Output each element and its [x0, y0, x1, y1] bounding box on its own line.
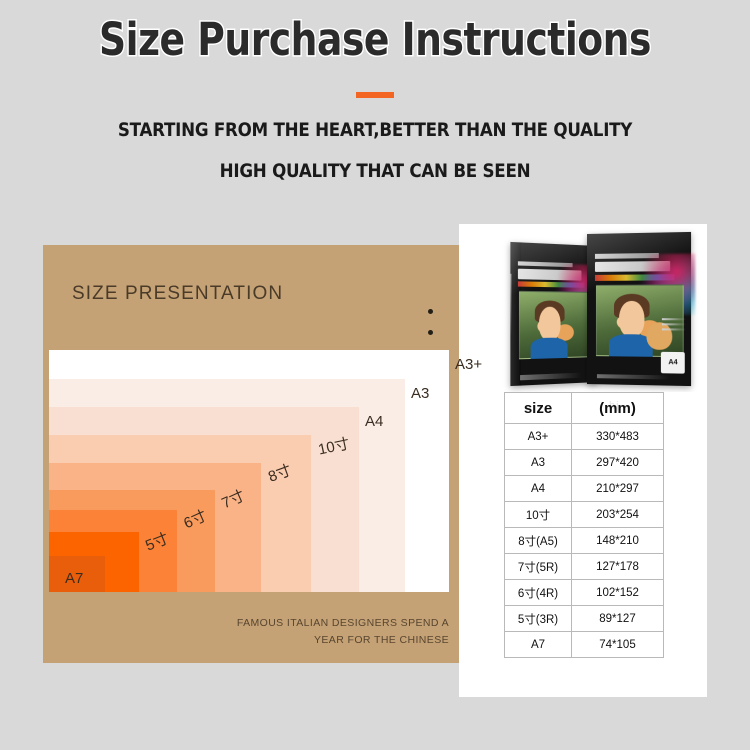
table-row: A4210*297 [505, 476, 664, 502]
cell-mm: 74*105 [572, 632, 664, 658]
cell-size: 8寸(A5) [505, 528, 572, 554]
table-row: A774*105 [505, 632, 664, 658]
column-header-size: size [505, 393, 572, 424]
dot-icon [428, 330, 433, 335]
cell-mm: 148*210 [572, 528, 664, 554]
page-title: Size Purchase Instructions [26, 16, 724, 64]
box-cover-photo [519, 291, 593, 359]
table-row: 8寸(A5)148*210 [505, 528, 664, 554]
cell-size: 5寸(3R) [505, 606, 572, 632]
cell-mm: 102*152 [572, 580, 664, 606]
product-box-back [510, 242, 598, 386]
table-header-row: size (mm) [505, 393, 664, 424]
size-comparison-diagram: A3+A3A410寸8寸7寸6寸5寸A7 [49, 350, 449, 592]
product-and-table-panel: A4 hj size (mm) A3+330*483A3297*420A4210… [459, 224, 707, 697]
column-header-mm: (mm) [572, 393, 664, 424]
subtitle-line-1: STARTING FROM THE HEART,BETTER THAN THE … [45, 119, 705, 141]
a4-badge: A4 [661, 352, 684, 374]
cell-size: A4 [505, 476, 572, 502]
cell-mm: 89*127 [572, 606, 664, 632]
box-gloss [587, 232, 691, 291]
footer-line-1: FAMOUS ITALIAN DESIGNERS SPEND A [159, 615, 449, 632]
page-root: Size Purchase Instructions STARTING FROM… [0, 0, 750, 750]
cell-mm: 297*420 [572, 450, 664, 476]
box-gloss [510, 242, 598, 298]
product-packaging-image: A4 [459, 224, 707, 392]
cell-size: A7 [505, 632, 572, 658]
photo-face [539, 307, 561, 341]
subtitle-line-2: HIGH QUALITY THAT CAN BE SEEN [45, 160, 705, 182]
size-table: size (mm) A3+330*483A3297*420A4210*29710… [504, 392, 664, 658]
cell-size: 6寸(4R) [505, 580, 572, 606]
size-presentation-panel: SIZE PRESENTATION A3+A3A410寸8寸7寸6寸5寸A7 F… [43, 245, 461, 663]
table-row: 5寸(3R)89*127 [505, 606, 664, 632]
box-footer-text [597, 374, 670, 380]
footer-line-2: YEAR FOR THE CHINESE [159, 632, 449, 649]
size-panel-footer: FAMOUS ITALIAN DESIGNERS SPEND A YEAR FO… [159, 615, 449, 649]
cell-size: 10寸 [505, 502, 572, 528]
table-row: 10寸203*254 [505, 502, 664, 528]
cell-mm: 210*297 [572, 476, 664, 502]
spec-list [662, 318, 685, 333]
table-row: A3+330*483 [505, 424, 664, 450]
box-footer-text [520, 373, 582, 380]
size-table-wrapper: size (mm) A3+330*483A3297*420A4210*29710… [504, 392, 664, 658]
table-row: 6寸(4R)102*152 [505, 580, 664, 606]
decorative-dots [428, 309, 433, 351]
size-layer-label: A4 [365, 413, 383, 430]
cell-mm: 127*178 [572, 554, 664, 580]
size-layer-label: A3 [411, 385, 429, 402]
photo-face [619, 301, 644, 337]
cell-size: 7寸(5R) [505, 554, 572, 580]
cell-size: A3 [505, 450, 572, 476]
size-layer-label: A3+ [455, 356, 482, 373]
dot-icon [428, 309, 433, 314]
size-presentation-title: SIZE PRESENTATION [72, 283, 283, 305]
cell-size: A3+ [505, 424, 572, 450]
product-box-front: A4 [587, 232, 691, 386]
size-layer-label: A7 [65, 570, 83, 587]
title-divider [356, 92, 394, 98]
table-row: A3297*420 [505, 450, 664, 476]
cell-mm: 203*254 [572, 502, 664, 528]
photo-shirt [530, 337, 568, 359]
table-row: 7寸(5R)127*178 [505, 554, 664, 580]
cell-mm: 330*483 [572, 424, 664, 450]
